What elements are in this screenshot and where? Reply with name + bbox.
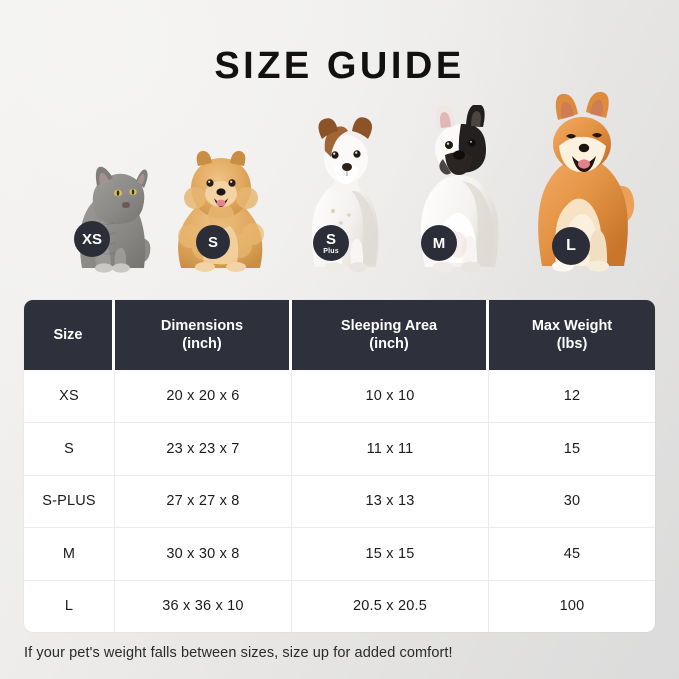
cell-dimensions: 20 x 20 x 6 <box>115 370 292 422</box>
cell-sleeping-area: 13 x 13 <box>292 476 489 527</box>
table-body: XS 20 x 20 x 6 10 x 10 12 S 23 x 23 x 7 … <box>24 370 655 632</box>
column-header-max-weight: Max Weight (lbs) <box>489 300 655 370</box>
page-title: SIZE GUIDE <box>0 45 679 88</box>
column-header-sub: (lbs) <box>557 335 588 353</box>
footer-note: If your pet's weight falls between sizes… <box>24 645 453 661</box>
animal-cat-british-shorthair: XS <box>52 150 162 275</box>
size-badge-s: S <box>196 225 230 259</box>
cat-illustration <box>52 150 162 275</box>
cell-max-weight: 15 <box>489 423 655 474</box>
cell-sleeping-area: 15 x 15 <box>292 528 489 579</box>
column-header-sub: (inch) <box>369 335 408 353</box>
animal-shiba-inu: L <box>514 90 649 275</box>
cell-sleeping-area: 10 x 10 <box>292 370 489 422</box>
cell-dimensions: 27 x 27 x 8 <box>115 476 292 527</box>
table-row: L 36 x 36 x 10 20.5 x 20.5 100 <box>24 580 655 632</box>
column-header-main: Size <box>53 326 82 344</box>
size-badge-label: M <box>433 236 446 251</box>
table-header-row: Size Dimensions (inch) Sleeping Area (in… <box>24 300 655 370</box>
cell-size: S-PLUS <box>24 476 115 527</box>
cell-sleeping-area: 20.5 x 20.5 <box>292 581 489 632</box>
size-badge-label: S <box>208 235 218 250</box>
size-badge-m: M <box>421 225 457 261</box>
size-guide-page: SIZE GUIDE <box>0 0 679 679</box>
column-header-main: Max Weight <box>532 317 612 335</box>
cell-dimensions: 36 x 36 x 10 <box>115 581 292 632</box>
cell-max-weight: 45 <box>489 528 655 579</box>
size-badge-label: S <box>326 232 336 247</box>
column-header-main: Dimensions <box>161 317 243 335</box>
cell-size: M <box>24 528 115 579</box>
cell-sleeping-area: 11 x 11 <box>292 423 489 474</box>
size-badge-l: L <box>552 227 590 265</box>
table-row: S-PLUS 27 x 27 x 8 13 x 13 30 <box>24 475 655 527</box>
size-badge-s-plus: S Plus <box>313 225 349 261</box>
size-badge-sublabel: Plus <box>323 248 339 255</box>
animal-size-row: XS <box>24 90 655 275</box>
cell-size: XS <box>24 370 115 422</box>
column-header-sleeping-area: Sleeping Area (inch) <box>292 300 489 370</box>
cell-size: S <box>24 423 115 474</box>
column-header-main: Sleeping Area <box>341 317 437 335</box>
cell-max-weight: 12 <box>489 370 655 422</box>
column-header-sub: (inch) <box>182 335 221 353</box>
column-header-size: Size <box>24 300 115 370</box>
table-row: M 30 x 30 x 8 15 x 15 45 <box>24 527 655 579</box>
table-row: S 23 x 23 x 7 11 x 11 15 <box>24 422 655 474</box>
french-bulldog-illustration <box>399 105 517 275</box>
size-badge-label: L <box>566 238 576 254</box>
cell-max-weight: 100 <box>489 581 655 632</box>
animal-jack-russell-terrier: S Plus <box>289 115 399 275</box>
cell-dimensions: 30 x 30 x 8 <box>115 528 292 579</box>
column-header-dimensions: Dimensions (inch) <box>115 300 292 370</box>
size-badge-label: XS <box>82 232 102 247</box>
size-badge-xs: XS <box>74 221 110 257</box>
table-row: XS 20 x 20 x 6 10 x 10 12 <box>24 370 655 422</box>
animal-pomeranian-dog: S <box>164 140 276 275</box>
cell-dimensions: 23 x 23 x 7 <box>115 423 292 474</box>
cell-size: L <box>24 581 115 632</box>
cell-max-weight: 30 <box>489 476 655 527</box>
size-chart-table: Size Dimensions (inch) Sleeping Area (in… <box>24 300 655 632</box>
animal-french-bulldog: M <box>399 105 517 275</box>
